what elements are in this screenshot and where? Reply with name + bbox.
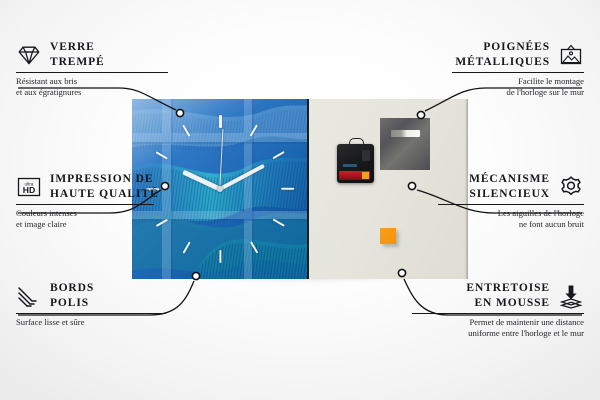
- feature-title: BORDS POLIS: [50, 281, 94, 310]
- feature-rule: [16, 313, 166, 314]
- ultra-hd-icon: ultra HD: [16, 174, 42, 200]
- mechanism-hanging-loop: [349, 138, 364, 148]
- polished-edges-icon: [16, 283, 42, 309]
- feature-description: Facilite le montage de l'horloge sur le …: [414, 76, 584, 97]
- feature-title: ENTRETOISE EN MOUSSE: [466, 281, 550, 310]
- infographic-canvas: VERRE TREMPÉ Résistant aux bris et aux é…: [0, 0, 600, 400]
- battery: [339, 171, 370, 180]
- feature-title: MÉCANISME SILENCIEUX: [469, 172, 550, 201]
- feature-verre-trempe: VERRE TREMPÉ Résistant aux bris et aux é…: [16, 40, 186, 97]
- feature-description: Les aiguilles de l'horloge ne font aucun…: [404, 208, 584, 229]
- feature-description: Résistant aux bris et aux égratignures: [16, 76, 186, 97]
- feature-poignees-metalliques: POIGNÉES MÉTALLIQUES Facilite le montage…: [414, 40, 584, 97]
- feature-rule: [16, 72, 168, 73]
- feature-bords-polis: BORDS POLIS Surface lisse et sûre: [16, 281, 184, 328]
- clock-hand-cap: [217, 186, 223, 192]
- feature-title: VERRE TREMPÉ: [50, 40, 105, 69]
- foam-spacer-icon: [558, 283, 584, 309]
- feature-mecanisme-silencieux: MÉCANISME SILENCIEUX Les aiguilles de l'…: [404, 172, 584, 229]
- gear-icon: [558, 174, 584, 200]
- feature-rule: [438, 204, 584, 205]
- feature-title: POIGNÉES MÉTALLIQUES: [455, 40, 550, 69]
- svg-text:HD: HD: [23, 185, 35, 195]
- feature-description: Surface lisse et sûre: [16, 317, 184, 328]
- mechanism-detail: [362, 150, 370, 161]
- feature-rule: [412, 313, 584, 314]
- feature-rule: [452, 72, 584, 73]
- clock-mechanism-box: [337, 144, 374, 183]
- feature-impression-haute-qualite: ultra HD IMPRESSION DE HAUTE QUALITÉ Cou…: [16, 172, 196, 229]
- wall-mount-icon: [558, 42, 584, 68]
- hanger-slot: [391, 130, 420, 137]
- feature-rule: [16, 204, 154, 205]
- feature-title: IMPRESSION DE HAUTE QUALITÉ: [50, 172, 159, 201]
- battery-terminal: [362, 172, 369, 179]
- feature-description: Couleurs intenses et image claire: [16, 208, 196, 229]
- diamond-icon: [16, 42, 42, 68]
- foam-spacer-pad: [380, 228, 396, 244]
- metal-hanger-plate: [380, 118, 430, 170]
- feature-entretoise-en-mousse: ENTRETOISE EN MOUSSE Permet de maintenir…: [404, 281, 584, 338]
- feature-description: Permet de maintenir une distance uniform…: [404, 317, 584, 338]
- mechanism-label: [343, 164, 357, 167]
